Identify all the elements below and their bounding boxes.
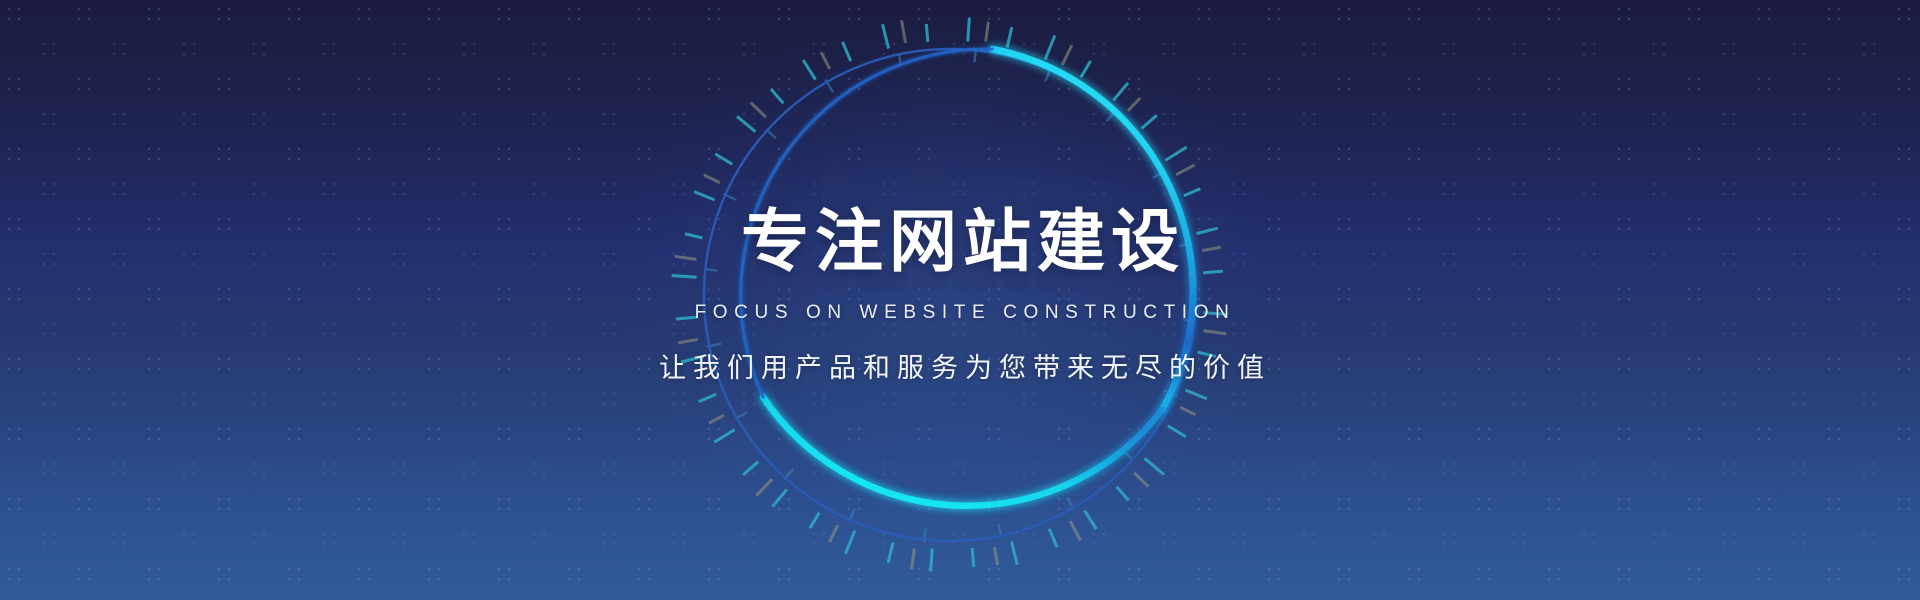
banner-tagline: 让我们用产品和服务为您带来无尽的价值 bbox=[659, 346, 1271, 385]
page-title: 专注网站建设 bbox=[741, 208, 1185, 276]
hero-banner: 专注网站建设 FOCUS ON WEBSITE CONSTRUCTION 让我们… bbox=[0, 0, 1920, 600]
banner-subtitle-en: FOCUS ON WEBSITE CONSTRUCTION bbox=[695, 302, 1236, 324]
banner-copy: 专注网站建设 FOCUS ON WEBSITE CONSTRUCTION 让我们… bbox=[0, 0, 1920, 600]
